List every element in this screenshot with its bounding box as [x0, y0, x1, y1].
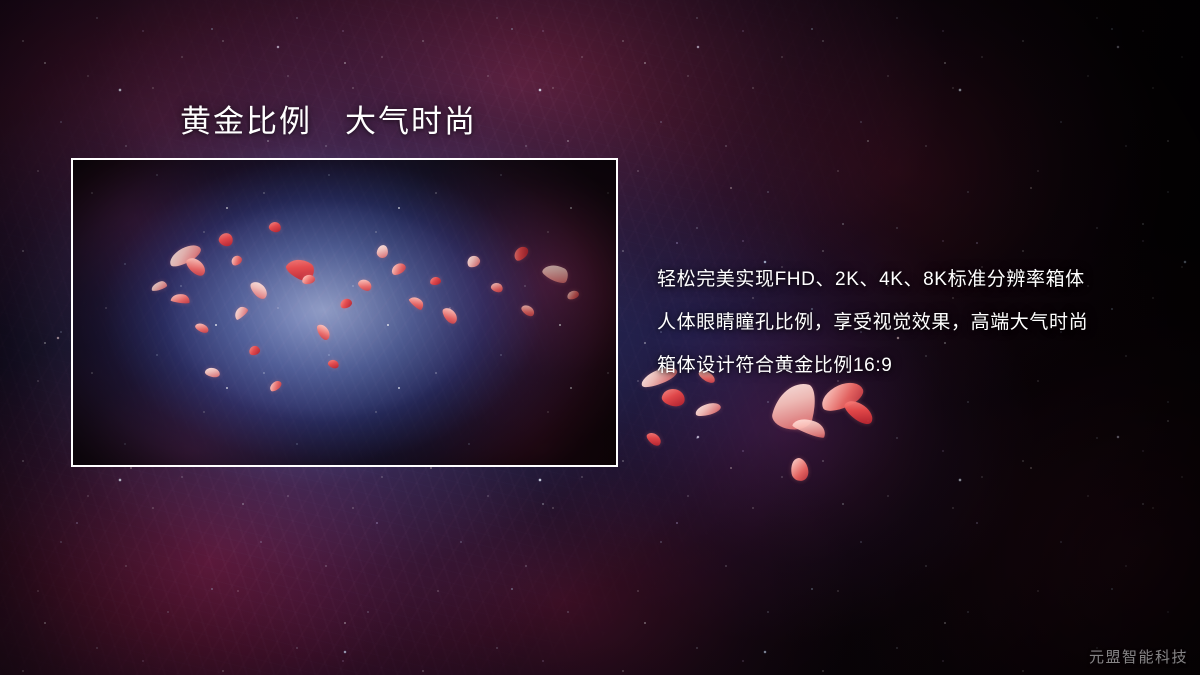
rose-petal [645, 430, 664, 448]
framed-photo [71, 158, 618, 467]
rose-petal [660, 387, 686, 408]
copy-line-2: 人体眼睛瞳孔比例，享受视觉效果，高端大气时尚 [657, 301, 1157, 344]
photo-vignette [73, 160, 616, 465]
copy-line-3: 箱体设计符合黄金比例16:9 [657, 344, 1157, 387]
presentation-slide: 黄金比例 大气时尚 轻松完美实现FHD、2K、4K、8K标准分辨率箱体 人体眼睛… [0, 0, 1200, 675]
rose-petal [841, 396, 876, 428]
body-copy: 轻松完美实现FHD、2K、4K、8K标准分辨率箱体 人体眼睛瞳孔比例，享受视觉效… [657, 258, 1157, 387]
rose-petal [789, 457, 810, 483]
watermark: 元盟智能科技 [1089, 646, 1188, 667]
rose-petal [792, 414, 829, 440]
rose-petal [694, 401, 722, 419]
copy-line-1: 轻松完美实现FHD、2K、4K、8K标准分辨率箱体 [657, 258, 1157, 301]
page-title: 黄金比例 大气时尚 [180, 103, 477, 142]
